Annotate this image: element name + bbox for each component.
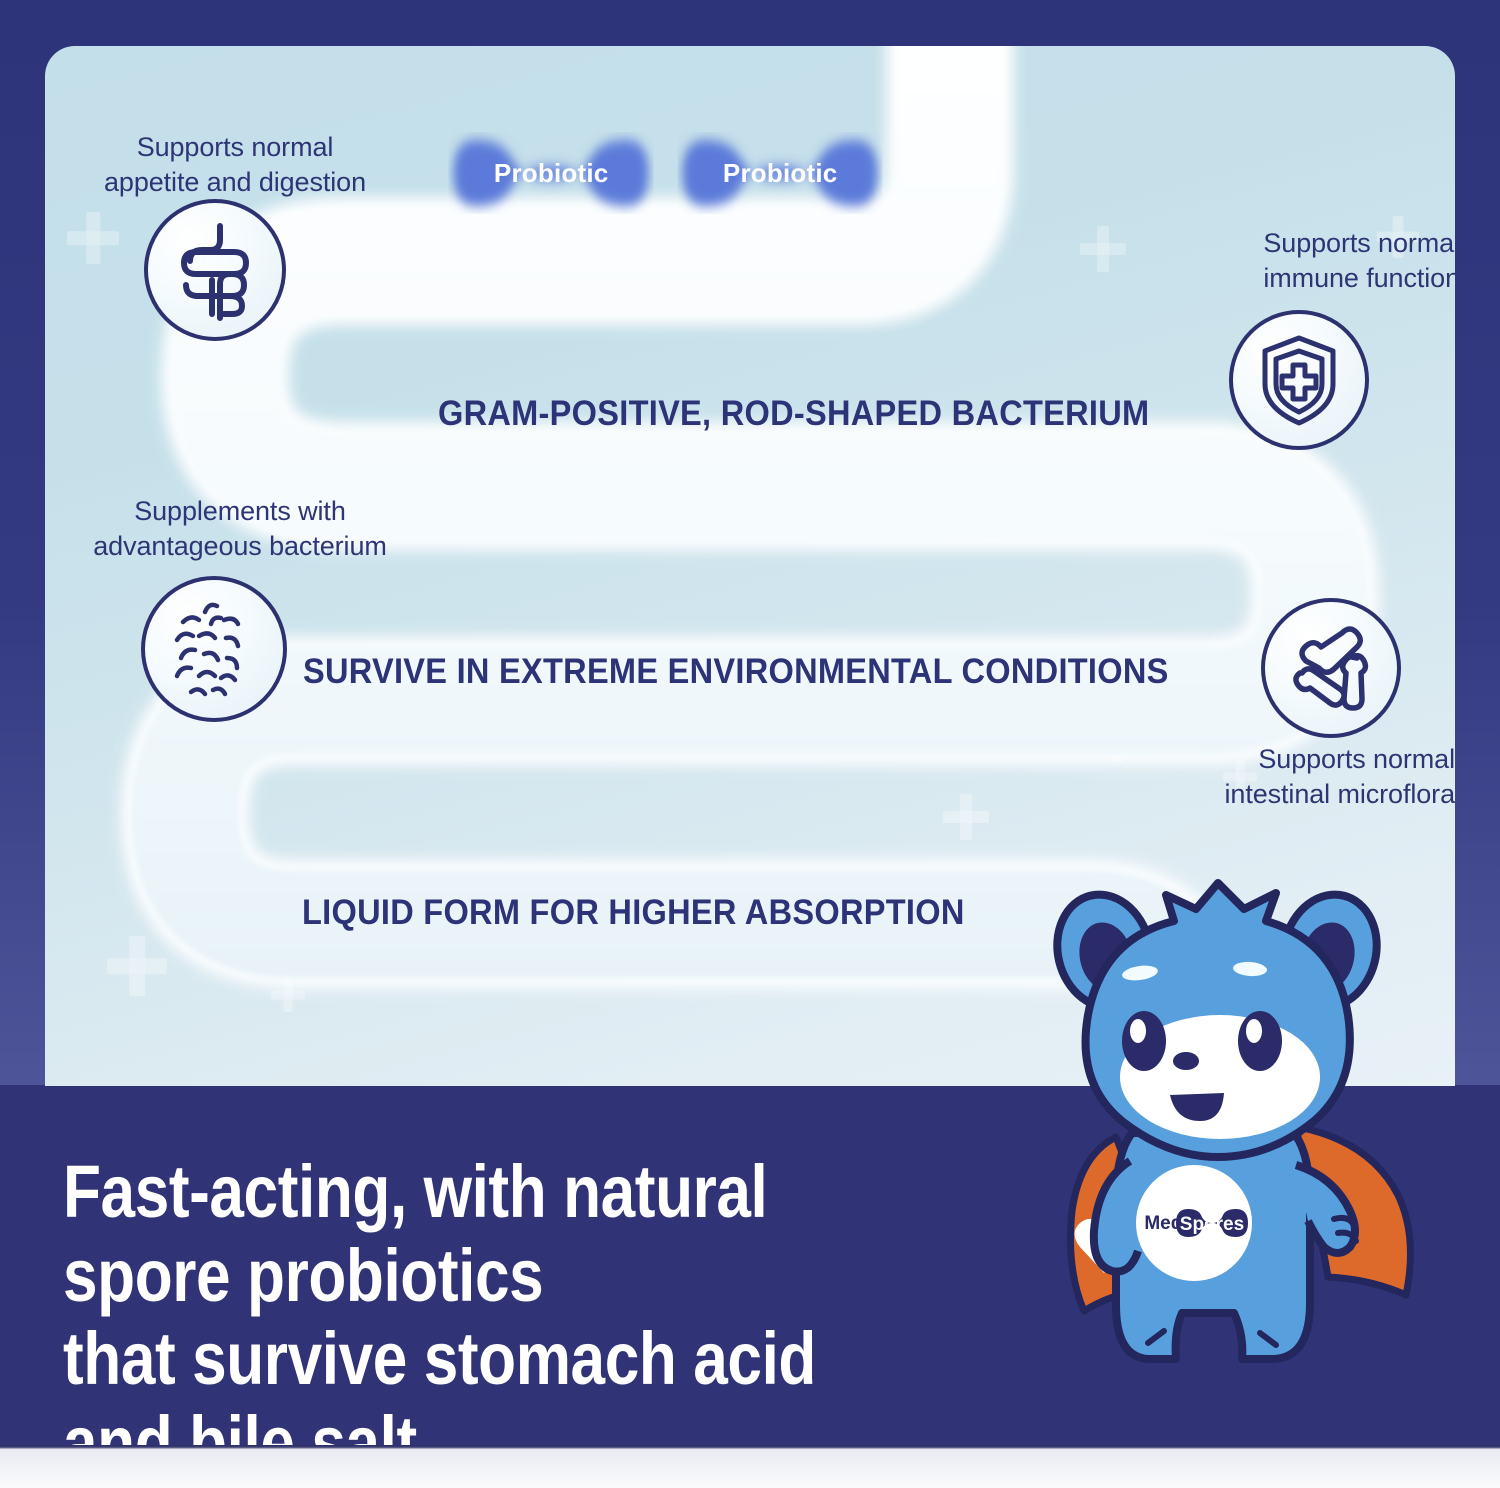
belly-logo-badge: Medi Spores (1144, 1209, 1248, 1237)
headline-liquid-form: LIQUID FORM FOR HIGHER ABSORPTION (302, 893, 965, 933)
caption-line: immune function (1095, 261, 1455, 296)
caption-microflora: Supports normal intestinal microflora (1045, 742, 1455, 811)
bacteria-cluster-icon (161, 596, 267, 702)
caption-line: Supplements with (65, 494, 415, 529)
badge-word-label: Spores (1180, 1214, 1244, 1235)
medi-spores-bear-mascot: Medi Spores (998, 865, 1446, 1385)
tagline-line-1: Fast-acting, with natural spore probioti… (63, 1150, 869, 1317)
caption-line: advantageous bacterium (65, 529, 415, 564)
caption-bacterium: Supplements with advantageous bacterium (65, 494, 415, 563)
caption-line: appetite and digestion (85, 165, 385, 200)
caption-line: Supports normal (1045, 742, 1455, 777)
probiotic-capsule: Probiotic (678, 132, 883, 214)
caption-line: Supports normal (85, 130, 385, 165)
probiotic-capsule: Probiotic (449, 132, 654, 214)
caption-line: Supports normal (1095, 226, 1455, 261)
headline-survive-conditions: SURVIVE IN EXTREME ENVIRONMENTAL CONDITI… (303, 652, 1169, 692)
rod-bacteria-icon-bubble (1261, 598, 1401, 738)
caption-immune: Supports normal immune function (1095, 226, 1455, 295)
footer-tagline: Fast-acting, with natural spore probioti… (63, 1150, 1023, 1484)
caption-line: intestinal microflora (1045, 777, 1455, 812)
shield-cross-icon-bubble (1229, 310, 1369, 450)
caption-appetite: Supports normal appetite and digestion (85, 130, 385, 199)
capsule-label: Probiotic (723, 158, 838, 189)
bacteria-cluster-icon-bubble (141, 576, 287, 722)
intestine-icon (172, 218, 258, 322)
bottom-edge-strip (0, 1445, 1500, 1488)
capsule-label: Probiotic (494, 158, 609, 189)
headline-gram-positive: GRAM-POSITIVE, ROD-SHAPED BACTERIUM (438, 394, 1149, 434)
rod-bacteria-icon (1284, 621, 1378, 715)
shield-cross-icon (1257, 332, 1341, 428)
intestine-icon-bubble (144, 199, 286, 341)
infographic-poster: Probiotic Probiotic Supports normal appe… (0, 0, 1500, 1488)
